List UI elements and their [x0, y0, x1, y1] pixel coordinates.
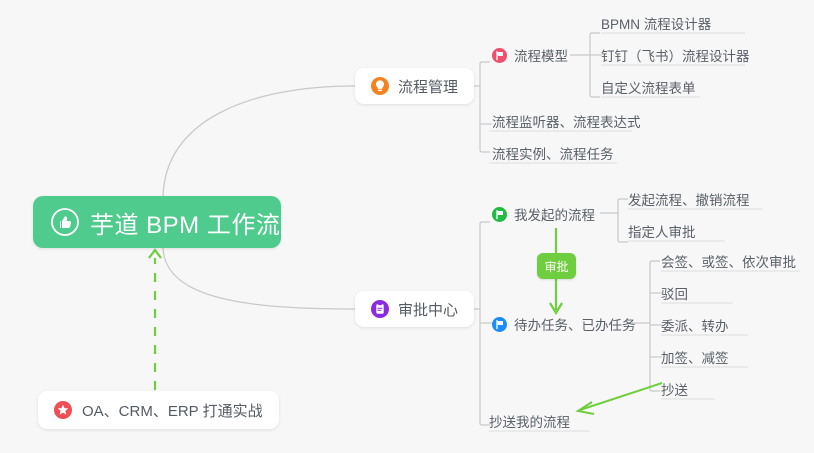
flag-icon	[492, 317, 507, 332]
leaf-label: 加签、减签	[661, 347, 729, 367]
node-label: 待办任务、已办任务	[514, 314, 636, 334]
leaf-bpmn-designer[interactable]: BPMN 流程设计器	[601, 12, 711, 34]
node-process-model[interactable]: 流程模型	[492, 44, 568, 66]
leaf-label: 钉钉（飞书）流程设计器	[601, 45, 750, 65]
root-label: 芋道 BPM 工作流	[90, 205, 280, 240]
branch-label: 审批中心	[398, 299, 458, 320]
leaf-cc-my-process[interactable]: 抄送我的流程	[489, 410, 570, 432]
lightbulb-icon	[371, 77, 389, 95]
leaf-process-instance[interactable]: 流程实例、流程任务	[492, 142, 614, 164]
leaf-label: 流程实例、流程任务	[492, 143, 614, 163]
approval-annotation-label: 审批	[544, 258, 568, 275]
branch-node-approval-center[interactable]: 审批中心	[355, 291, 474, 327]
approval-annotation-pill: 审批	[537, 253, 576, 279]
leaf-label: 发起流程、撤销流程	[628, 189, 750, 209]
bottom-note-card[interactable]: OA、CRM、ERP 打通实战	[38, 391, 279, 429]
leaf-label: 指定人审批	[628, 221, 696, 241]
leaf-label: 抄送我的流程	[489, 411, 570, 431]
leaf-start-cancel-process[interactable]: 发起流程、撤销流程	[628, 188, 750, 210]
leaf-cc[interactable]: 抄送	[661, 378, 688, 400]
node-my-started-process[interactable]: 我发起的流程	[492, 203, 595, 225]
leaf-label: 会签、或签、依次审批	[661, 251, 796, 271]
node-label: 流程模型	[514, 45, 568, 65]
star-icon	[54, 401, 72, 419]
leaf-custom-form[interactable]: 自定义流程表单	[601, 76, 696, 98]
leaf-reject[interactable]: 驳回	[661, 282, 688, 304]
leaf-assignee-approval[interactable]: 指定人审批	[628, 220, 696, 242]
flag-icon	[492, 207, 507, 222]
node-todo-done-tasks[interactable]: 待办任务、已办任务	[492, 313, 636, 335]
thumbs-up-icon	[51, 208, 79, 236]
mindmap-canvas: 芋道 BPM 工作流 OA、CRM、ERP 打通实战 流程管理	[0, 0, 814, 453]
leaf-add-remove-sign[interactable]: 加签、减签	[661, 346, 729, 368]
leaf-label: 驳回	[661, 283, 688, 303]
bottom-note-label: OA、CRM、ERP 打通实战	[82, 400, 263, 421]
leaf-label: 委派、转办	[661, 315, 729, 335]
leaf-label: 流程监听器、流程表达式	[492, 111, 641, 131]
leaf-label: BPMN 流程设计器	[601, 13, 711, 33]
root-node[interactable]: 芋道 BPM 工作流	[33, 196, 281, 248]
leaf-label: 自定义流程表单	[601, 77, 696, 97]
leaf-label: 抄送	[661, 379, 688, 399]
leaf-countersign[interactable]: 会签、或签、依次审批	[661, 250, 796, 272]
flag-icon	[492, 48, 507, 63]
clipboard-icon	[371, 300, 389, 318]
node-label: 我发起的流程	[514, 204, 595, 224]
leaf-dingtalk-designer[interactable]: 钉钉（飞书）流程设计器	[601, 44, 750, 66]
leaf-process-listener[interactable]: 流程监听器、流程表达式	[492, 110, 641, 132]
branch-node-process-management[interactable]: 流程管理	[355, 68, 474, 104]
branch-label: 流程管理	[398, 76, 458, 97]
leaf-delegate-transfer[interactable]: 委派、转办	[661, 314, 729, 336]
